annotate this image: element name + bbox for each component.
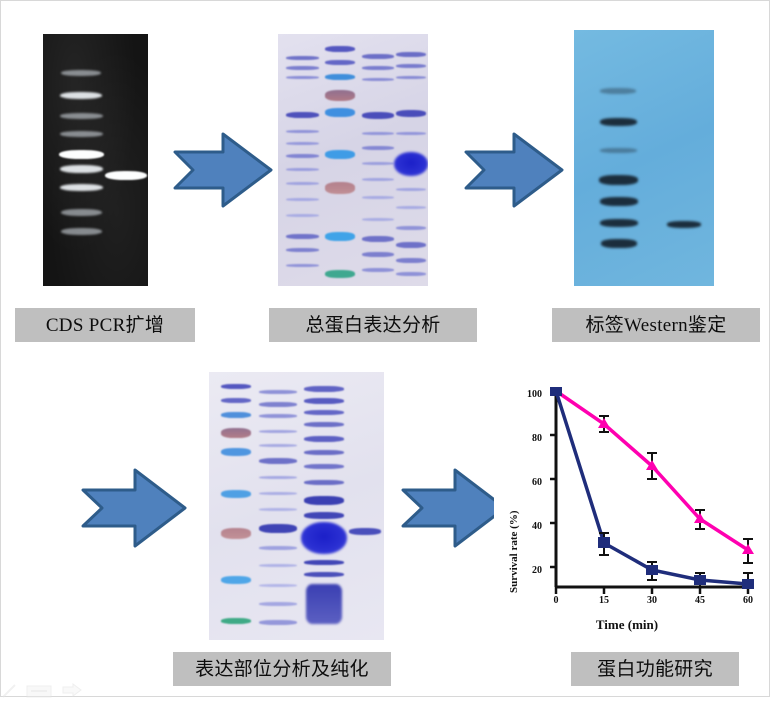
caption-step-2: 总蛋白表达分析: [269, 308, 477, 342]
caption-step-1: CDS PCR扩增: [15, 308, 195, 342]
gel-lane-1-marker: [221, 380, 251, 632]
sds-page-purification: [209, 372, 384, 640]
chart-x-tick: 0: [540, 595, 572, 606]
ladder-band: [60, 165, 103, 173]
survival-rate-chart: Survival rate (%) 100 80 60 40 20: [494, 377, 762, 639]
chart-y-tick: 60: [510, 477, 542, 488]
chart-series-navy-markers: [550, 387, 754, 589]
ladder-band: [61, 70, 101, 76]
arrow-step2-to-step3: [462, 128, 566, 212]
caption-step-4: 表达部位分析及纯化: [173, 652, 391, 686]
caption-step-3: 标签Western鉴定: [552, 308, 760, 342]
gel-lane-3: [362, 42, 394, 282]
western-blot: [574, 30, 714, 286]
pcr-product-band: [105, 171, 147, 180]
gel-lane-2-soluble: [259, 380, 297, 632]
chart-y-tick: 20: [510, 565, 542, 576]
gel-lane-4-induced: [396, 42, 426, 282]
ladder-band: [60, 92, 102, 99]
ladder-band: [61, 209, 102, 216]
cropped-toolbar-artifacts: [1, 683, 121, 698]
target-protein-band: [667, 221, 701, 228]
chart-y-tick: 40: [510, 521, 542, 532]
arrow-step4-to-step5: [399, 464, 509, 552]
ladder-band: [60, 113, 103, 119]
chart-y-tick: 80: [510, 433, 542, 444]
marker-band: [601, 239, 637, 248]
marker-band: [600, 219, 638, 227]
arrow-step1-to-step2: [171, 128, 275, 212]
chart-x-axis-label: Time (min): [522, 617, 732, 633]
marker-band: [600, 118, 637, 126]
caption-step-5: 蛋白功能研究: [571, 652, 739, 686]
chart-x-tick: 30: [636, 595, 668, 606]
chart-y-tick: 100: [510, 389, 542, 400]
ladder-band: [60, 131, 103, 137]
dna-agarose-gel: [43, 34, 148, 286]
overexpression-band: [394, 152, 428, 176]
gel-lane-2-marker: [325, 42, 355, 282]
sds-page-total-protein: [278, 34, 428, 286]
gel-lane-4-purified: [349, 380, 381, 632]
gel-lane-3-lysate: [304, 380, 344, 632]
chart-x-tick: 60: [732, 595, 764, 606]
marker-band: [600, 148, 637, 153]
ladder-band: [59, 150, 104, 159]
marker-band: [600, 197, 638, 206]
purified-protein-band: [349, 528, 381, 535]
chart-plot-area: [546, 387, 756, 609]
marker-band: [600, 88, 636, 94]
marker-band: [599, 175, 638, 185]
chart-x-tick: 45: [684, 595, 716, 606]
membrane-background: [574, 30, 714, 286]
chart-x-tick: 15: [588, 595, 620, 606]
ladder-band: [61, 228, 102, 235]
figure-canvas: CDS PCR扩增: [1, 1, 769, 696]
gel-lane-1: [286, 42, 319, 282]
ladder-band: [60, 184, 103, 191]
target-protein-blob: [301, 522, 347, 554]
arrow-step3-to-step4: [79, 464, 189, 552]
